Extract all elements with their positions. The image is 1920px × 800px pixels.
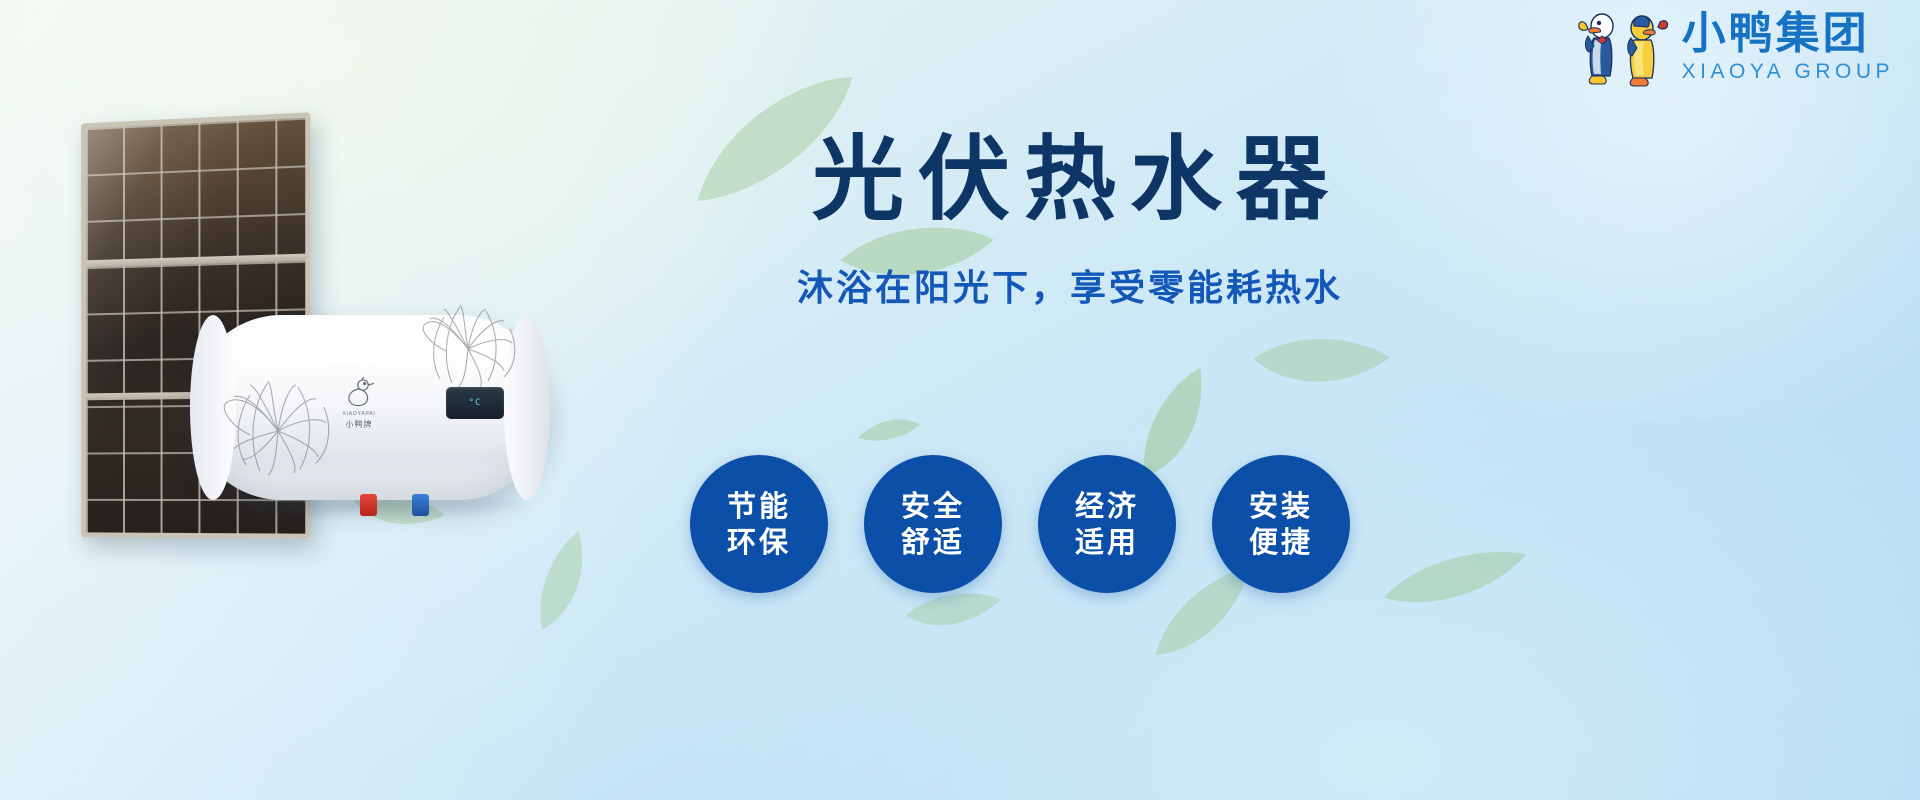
electric-water-heater-tank: XIAOYAPAI 小鸭牌 °C: [190, 315, 550, 500]
flower-pattern-icon: [418, 299, 522, 400]
logo-name-en: XIAOYA GROUP: [1682, 61, 1894, 82]
badge-line-2: 适用: [1075, 527, 1139, 557]
flower-pattern-icon: [220, 373, 342, 490]
leaf-icon: [1249, 309, 1394, 411]
feature-badge-economy[interactable]: 经济 适用: [1038, 455, 1176, 593]
cold-water-pipe: [412, 494, 429, 516]
badge-line-1: 经济: [1075, 491, 1139, 521]
two-ducks-icon: [1576, 6, 1672, 88]
headline-block: 光伏热水器 沐浴在阳光下，享受零能耗热水: [700, 130, 1440, 311]
badge-line-2: 便捷: [1249, 527, 1313, 557]
promotional-banner: 小鸭集团 XIAOYA GROUP: [0, 0, 1920, 800]
display-value: °C: [469, 398, 482, 408]
logo-name-cn: 小鸭集团: [1682, 12, 1870, 56]
company-logo: 小鸭集团 XIAOYA GROUP: [1576, 6, 1894, 88]
badge-line-2: 舒适: [901, 527, 965, 557]
badge-line-1: 安装: [1249, 491, 1313, 521]
heater-brand-en: XIAOYAPAI: [342, 411, 375, 417]
page-subtitle: 沐浴在阳光下，享受零能耗热水: [700, 259, 1440, 311]
heater-display-panel[interactable]: °C: [446, 387, 504, 419]
feature-badge-safety[interactable]: 安全 舒适: [864, 455, 1002, 593]
badge-line-2: 环保: [727, 527, 791, 557]
leaf-icon: [1378, 544, 1533, 611]
heater-brand-mark: XIAOYAPAI 小鸭牌: [342, 377, 376, 430]
badge-line-1: 安全: [901, 491, 965, 521]
feature-badge-installation[interactable]: 安装 便捷: [1212, 455, 1350, 593]
page-title: 光伏热水器: [714, 130, 1440, 229]
feature-badge-row: 节能 环保 安全 舒适 经济 适用 安装 便捷: [690, 455, 1350, 593]
logo-text-block: 小鸭集团 XIAOYA GROUP: [1682, 12, 1894, 82]
leaf-icon: [857, 412, 922, 446]
feature-badge-energy-saving[interactable]: 节能 环保: [690, 455, 828, 593]
hot-water-pipe: [360, 494, 377, 516]
badge-line-1: 节能: [727, 491, 791, 521]
heater-brand-cn: 小鸭牌: [346, 419, 373, 430]
duck-outline-icon: [342, 377, 376, 409]
leaf-icon: [513, 527, 612, 636]
